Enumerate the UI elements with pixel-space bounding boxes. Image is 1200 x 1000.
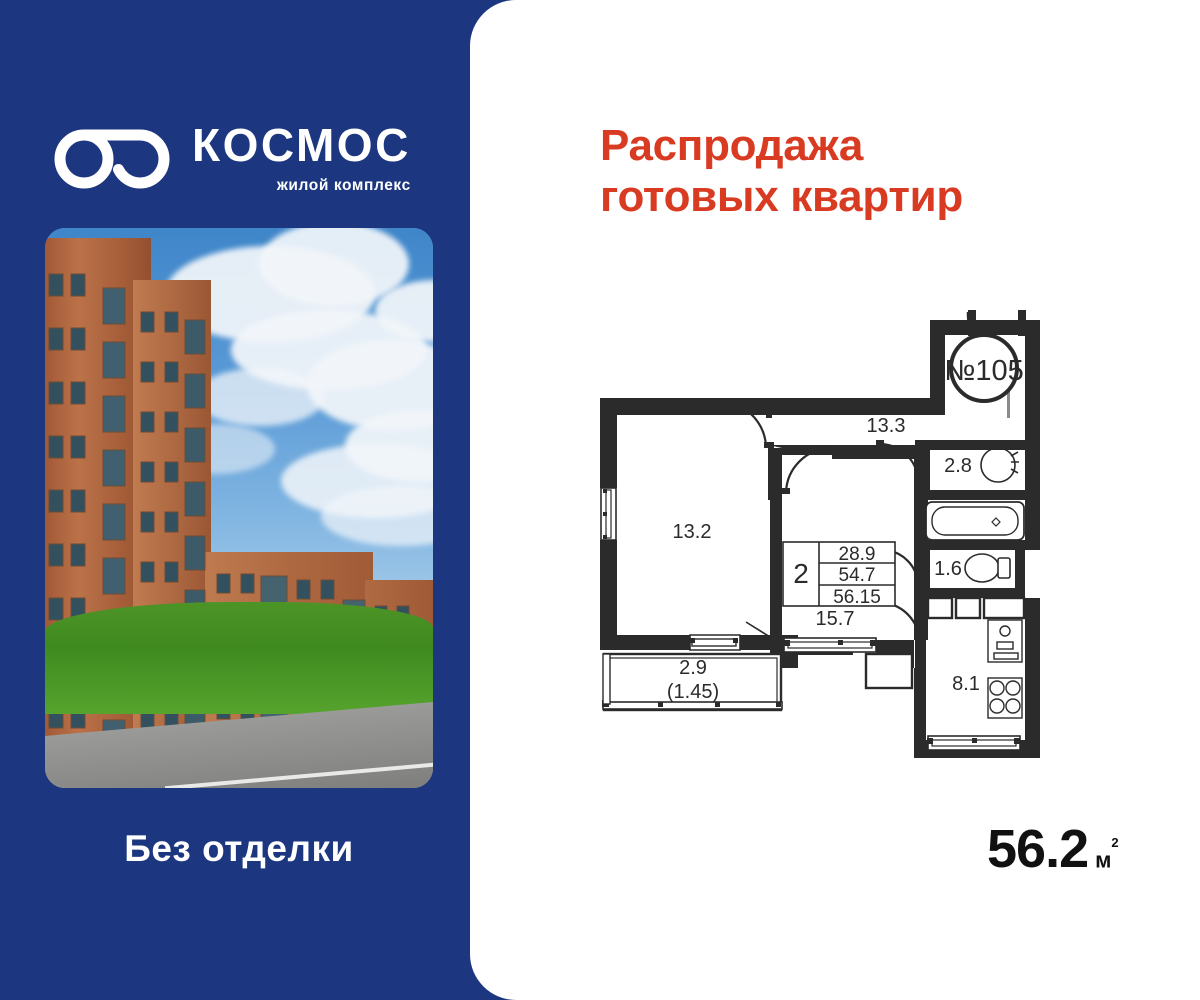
- svg-text:2: 2: [793, 558, 809, 589]
- svg-text:28.9: 28.9: [839, 544, 876, 565]
- bathtub-icon: [926, 502, 1024, 540]
- brand-logo: КОСМОС жилой комплекс: [50, 122, 411, 195]
- stove-icon: [988, 678, 1022, 718]
- room-area-balcony-coeff: (1.45): [667, 681, 719, 703]
- floor-plan: №105 2 28.9 54.7 56.15 13.2 13.3: [570, 250, 1130, 810]
- area-stat: 56.2 м2: [987, 818, 1119, 880]
- finish-caption: Без отделки: [0, 828, 478, 870]
- listing-card: КОСМОС жилой комплекс: [0, 0, 1200, 1000]
- svg-text:№105: №105: [944, 355, 1024, 387]
- floor-plan-svg: №105 2 28.9 54.7 56.15 13.2 13.3: [570, 250, 1130, 810]
- room-area-balcony: 2.9: [679, 657, 707, 679]
- area-value: 56.2: [987, 818, 1088, 880]
- lawn: [45, 602, 433, 714]
- room-area-bedroom: 15.7: [816, 608, 855, 630]
- unit-number-badge: №105: [944, 335, 1024, 401]
- right-content-panel: Распродажа готовых квартир: [470, 0, 1200, 1000]
- left-brand-panel: КОСМОС жилой комплекс: [0, 0, 500, 1000]
- room-area-bathroom: 2.8: [944, 455, 972, 477]
- listing-stats: 56.2 м2 2 комната 12 этаж: [975, 818, 1200, 898]
- sink-icon: [981, 448, 1019, 482]
- svg-text:56.15: 56.15: [833, 587, 881, 608]
- brand-name: КОСМОС: [192, 122, 411, 168]
- residential-complex-photo: [45, 228, 433, 788]
- headline-line-2: готовых квартир: [600, 171, 1180, 222]
- kitchen-sink-icon: [988, 620, 1022, 662]
- room-area-hallway: 13.3: [867, 415, 906, 437]
- room-area-living: 13.2: [673, 521, 712, 543]
- svg-text:54.7: 54.7: [839, 565, 876, 586]
- area-legend-table: 2 28.9 54.7 56.15: [783, 542, 895, 608]
- toilet-icon: [965, 554, 1010, 582]
- headline-line-1: Распродажа: [600, 121, 863, 170]
- page-title: Распродажа готовых квартир: [600, 120, 1180, 222]
- area-unit: м2: [1095, 847, 1119, 873]
- infinity-icon: [50, 129, 174, 189]
- room-area-wc: 1.6: [934, 558, 962, 580]
- room-area-kitchen: 8.1: [952, 673, 980, 695]
- window-living-left: [601, 488, 616, 540]
- brand-subtitle: жилой комплекс: [277, 177, 411, 195]
- closet-row: [928, 598, 1024, 618]
